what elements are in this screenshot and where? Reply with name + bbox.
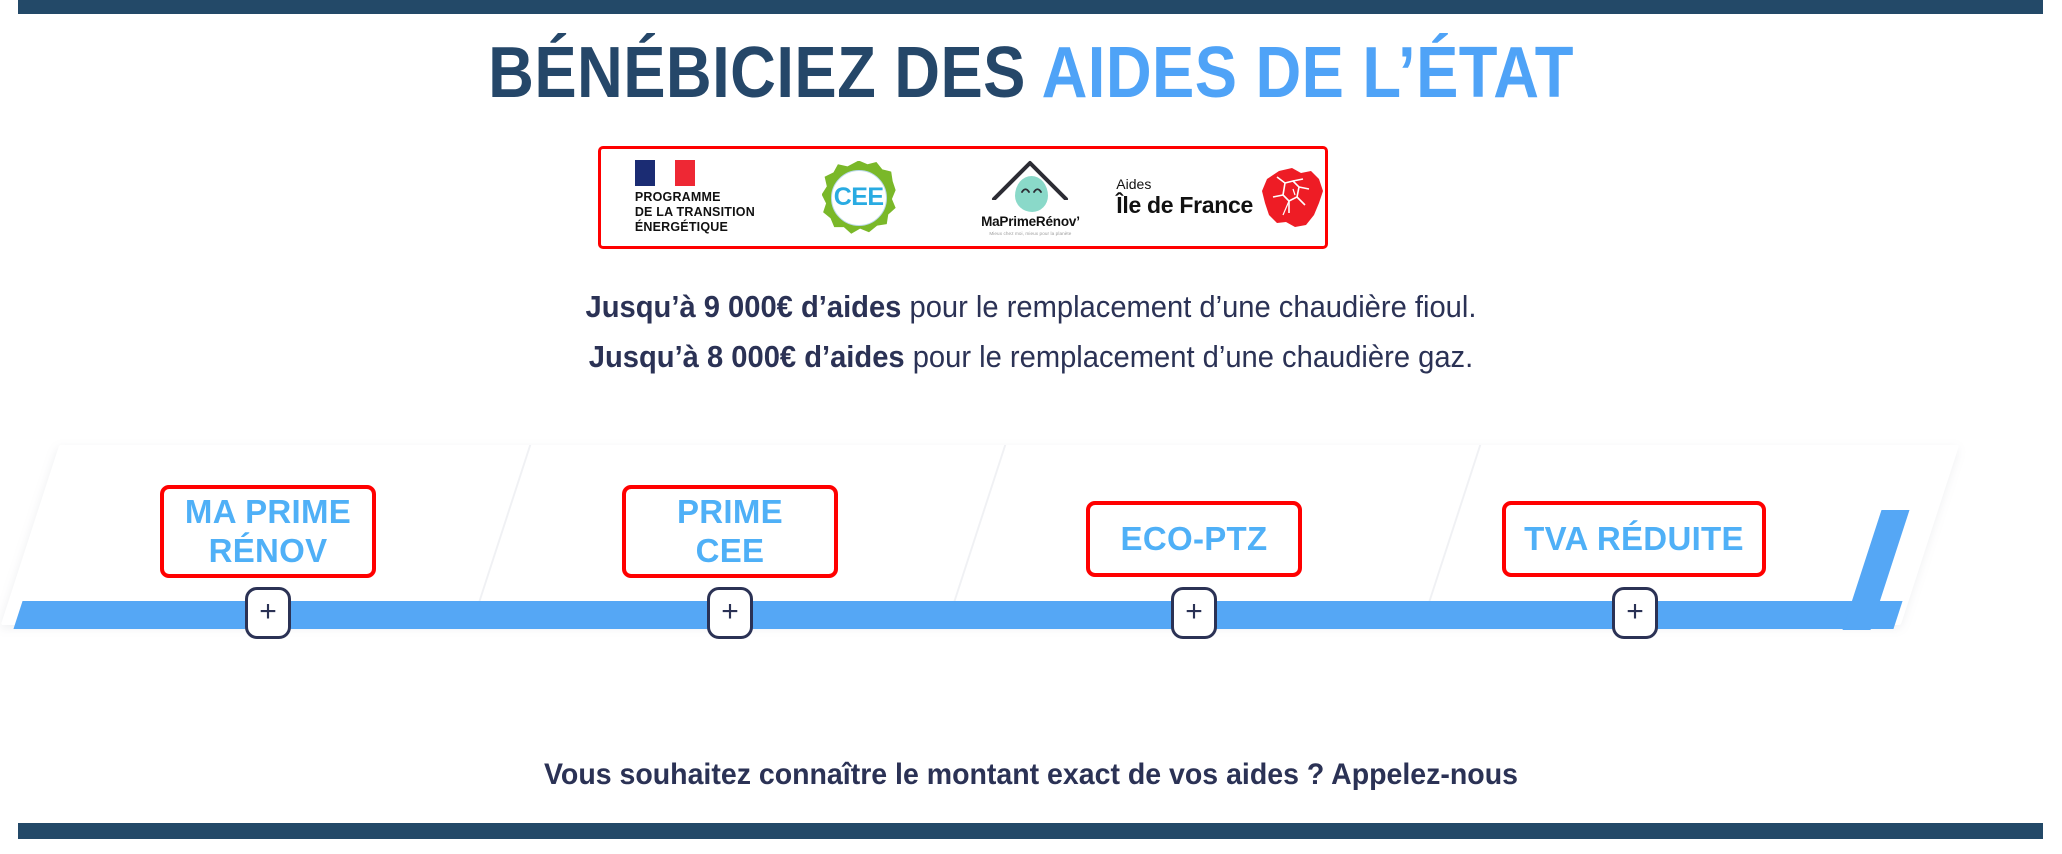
plus-icon: + (1185, 597, 1203, 627)
page-title: BÉNÉBICIEZ DES AIDES DE L’ÉTAT (124, 36, 1939, 112)
french-flag-icon (635, 160, 695, 186)
aid-line-gaz: Jusqu’à 8 000€ d’aides pour le remplacem… (62, 332, 2000, 382)
plus-icon: + (259, 597, 277, 627)
aid-card-eco-ptz-label: ECO-PTZ (1121, 520, 1268, 559)
panel-divider-2 (943, 445, 1010, 625)
aides-label: Aides (1116, 177, 1151, 192)
plus-icon: + (721, 597, 739, 627)
aid-amount-lines: Jusqu’à 9 000€ d’aides pour le remplacem… (0, 282, 2062, 382)
aid-card-tva-reduite-label: TVA RÉDUITE (1524, 520, 1744, 559)
bottom-divider-bar (18, 823, 2043, 839)
aid-card-eco-ptz[interactable]: ECO-PTZ (1086, 501, 1302, 577)
panel-divider-1 (468, 445, 535, 625)
contact-prompt: Vous souhaitez connaître le montant exac… (52, 758, 2011, 792)
aid-card-prime-cee-label: PRIME CEE (677, 493, 783, 571)
aid-card-tva-reduite-expand-button[interactable]: + (1612, 587, 1658, 639)
cee-logo: CEE (773, 149, 945, 246)
top-divider-bar (18, 0, 2043, 14)
aid-schemes-banner: MA PRIME RÉNOV PRIME CEE ECO-PTZ TVA RÉD… (0, 445, 2062, 665)
maprimerenov-label: MaPrimeRénov’ (981, 214, 1080, 229)
aid-line-fioul: Jusqu’à 9 000€ d’aides pour le remplacem… (62, 282, 2000, 332)
aid-card-eco-ptz-expand-button[interactable]: + (1171, 587, 1217, 639)
aid-line-fioul-amount: Jusqu’à 9 000€ d’aides (586, 289, 902, 324)
house-roof-smiley-icon (991, 160, 1069, 212)
maprimerenov-tagline: Mieux chez moi, mieux pour la planète (989, 231, 1071, 236)
aid-card-prime-cee-expand-button[interactable]: + (707, 587, 753, 639)
aides-ile-de-france-logo: Aides Île de France (1116, 149, 1325, 246)
aid-line-gaz-rest: pour le remplacement d’une chaudière gaz… (905, 339, 1474, 374)
plus-icon: + (1626, 597, 1644, 627)
ile-de-france-map-icon (1259, 167, 1325, 229)
aid-card-prime-cee[interactable]: PRIME CEE (622, 485, 838, 578)
page-title-dark-part: BÉNÉBICIEZ DES (488, 33, 1041, 113)
aid-line-gaz-amount: Jusqu’à 8 000€ d’aides (589, 339, 905, 374)
programme-transition-energetique-label: PROGRAMME DE LA TRANSITION ÉNERGÉTIQUE (635, 190, 755, 234)
page-title-light-part: AIDES DE L’ÉTAT (1042, 33, 1574, 113)
partner-logos-strip: PROGRAMME DE LA TRANSITION ÉNERGÉTIQUE C… (598, 146, 1328, 249)
aid-card-ma-prime-renov-expand-button[interactable]: + (245, 587, 291, 639)
maprimerenov-logo: MaPrimeRénov’ Mieux chez moi, mieux pour… (945, 149, 1117, 246)
cee-rosette-icon: CEE (822, 161, 896, 235)
programme-transition-energetique-logo: PROGRAMME DE LA TRANSITION ÉNERGÉTIQUE (601, 149, 773, 246)
cee-label: CEE (834, 183, 884, 212)
aid-card-ma-prime-renov-label: MA PRIME RÉNOV (185, 493, 351, 571)
aid-card-tva-reduite[interactable]: TVA RÉDUITE (1502, 501, 1766, 577)
aid-line-fioul-rest: pour le remplacement d’une chaudière fio… (901, 289, 1476, 324)
ile-de-france-label: Île de France (1116, 193, 1253, 218)
aid-card-ma-prime-renov[interactable]: MA PRIME RÉNOV (160, 485, 376, 578)
panel-divider-3 (1418, 445, 1485, 625)
